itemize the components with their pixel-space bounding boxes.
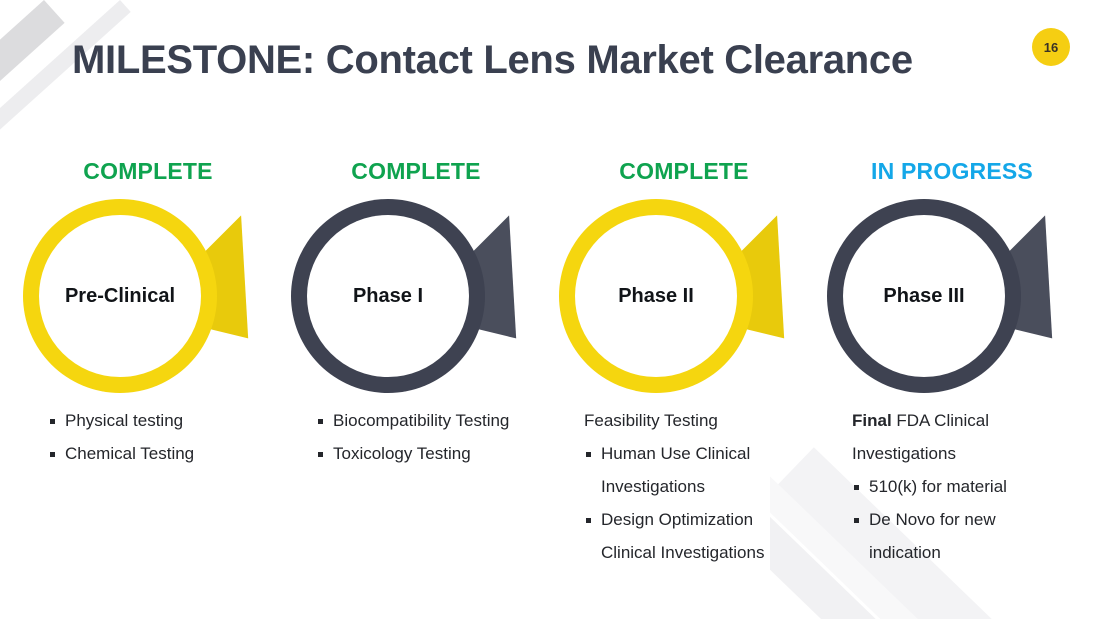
square-bullet-icon (50, 419, 55, 424)
square-bullet-icon (854, 485, 859, 490)
milestone-column: IN PROGRESSPhase IIIFinal FDA Clinical I… (818, 0, 1086, 619)
square-bullet-icon (50, 452, 55, 457)
phase-node-graphic (22, 196, 282, 396)
square-bullet-icon (854, 518, 859, 523)
slide-canvas: MILESTONE: Contact Lens Market Clearance… (0, 0, 1100, 619)
phase-ring-inner (39, 215, 201, 377)
list-item-label: 510(k) for material (869, 477, 1007, 496)
list-item: Human Use Clinical Investigations (584, 437, 800, 503)
phase-ring-inner (575, 215, 737, 377)
list-item-label: Human Use Clinical Investigations (601, 444, 750, 496)
list-item: Toxicology Testing (316, 437, 548, 470)
list-item: De Novo for new indication (852, 503, 1068, 569)
milestone-column: COMPLETEPhase IBiocompatibility TestingT… (282, 0, 550, 619)
list-item-label: Feasibility Testing (584, 411, 718, 430)
square-bullet-icon (318, 419, 323, 424)
phase-detail-list: Final FDA Clinical Investigations510(k) … (852, 404, 1068, 569)
list-item: Feasibility Testing (584, 404, 800, 437)
list-item-label: Toxicology Testing (333, 444, 471, 463)
phase-detail-list: Physical testingChemical Testing (48, 404, 280, 470)
status-badge: COMPLETE (14, 158, 282, 185)
phase-detail-list: Feasibility TestingHuman Use Clinical In… (584, 404, 800, 569)
list-item: 510(k) for material (852, 470, 1068, 503)
square-bullet-icon (318, 452, 323, 457)
phase-node-graphic (558, 196, 818, 396)
list-item: Physical testing (48, 404, 280, 437)
phase-ring-inner (843, 215, 1005, 377)
list-item: Chemical Testing (48, 437, 280, 470)
list-item: Final FDA Clinical Investigations (852, 404, 1068, 470)
list-item-label: De Novo for new indication (869, 510, 996, 562)
phase-detail-list: Biocompatibility TestingToxicology Testi… (316, 404, 548, 470)
phase-node-graphic (290, 196, 550, 396)
list-item-label: Design Optimization Clinical Investigati… (601, 510, 764, 562)
phase-ring-inner (307, 215, 469, 377)
list-item-label: Biocompatibility Testing (333, 411, 509, 430)
list-item: Design Optimization Clinical Investigati… (584, 503, 800, 569)
phase-node-graphic (826, 196, 1086, 396)
square-bullet-icon (586, 518, 591, 523)
status-badge: COMPLETE (550, 158, 818, 185)
list-item-label: Physical testing (65, 411, 183, 430)
list-item: Biocompatibility Testing (316, 404, 548, 437)
milestone-column: COMPLETEPhase IIFeasibility TestingHuman… (550, 0, 818, 619)
status-badge: IN PROGRESS (818, 158, 1086, 185)
milestone-columns: COMPLETEPre-ClinicalPhysical testingChem… (0, 0, 1100, 619)
list-item-label: Chemical Testing (65, 444, 194, 463)
milestone-column: COMPLETEPre-ClinicalPhysical testingChem… (14, 0, 282, 619)
list-item-emphasis: Final (852, 411, 892, 430)
square-bullet-icon (586, 452, 591, 457)
status-badge: COMPLETE (282, 158, 550, 185)
